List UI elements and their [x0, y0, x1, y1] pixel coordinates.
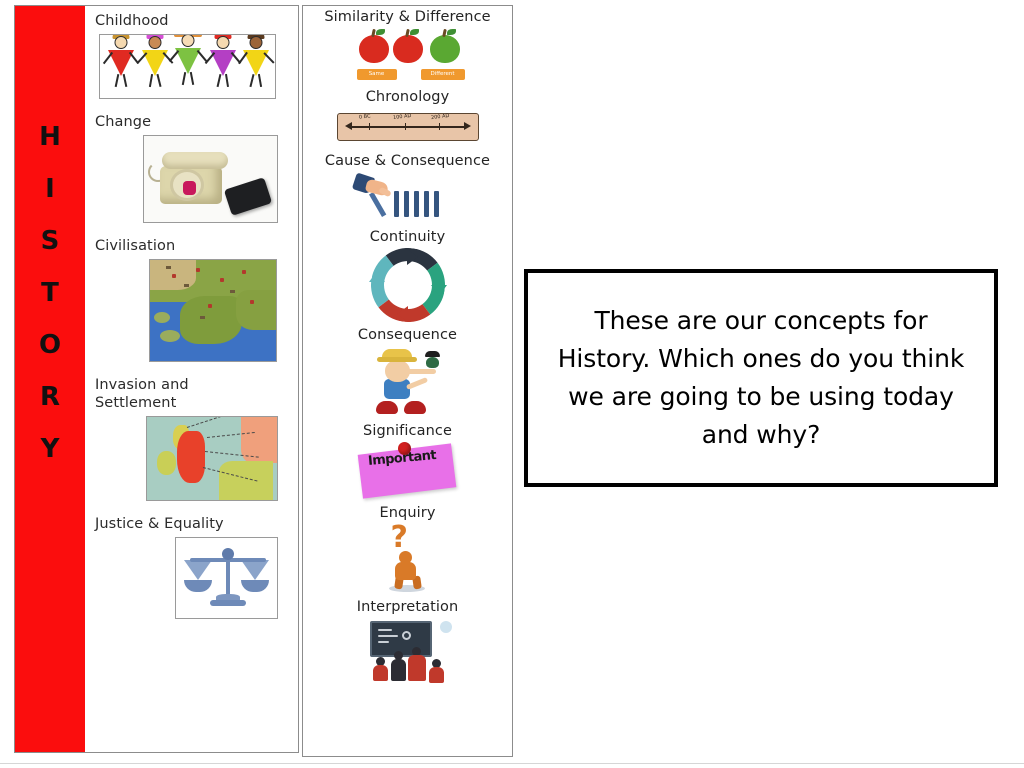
spine-letter-o: O: [39, 319, 61, 371]
topic-label-civilisation: Civilisation: [95, 237, 294, 255]
smartphone: [224, 177, 272, 216]
rotary-phone-and-smartphone-photo: [143, 135, 278, 223]
history-title-spine: H I S T O R Y: [15, 6, 85, 752]
concept-enquiry: Enquiry ?: [303, 505, 512, 593]
hand-finger: [378, 187, 391, 198]
history-concepts-panel: Similarity & Difference Same Different C…: [302, 5, 513, 757]
concept-consequence: Consequence: [303, 327, 512, 417]
spine-letter-y: Y: [41, 423, 60, 475]
topic-childhood: Childhood: [95, 12, 294, 99]
kid-figure: [208, 36, 238, 94]
phone-handset: [162, 152, 228, 169]
concept-continuity: Continuity: [303, 229, 512, 323]
invasion-routes-map-of-britain: [146, 416, 278, 501]
concept-label-continuity: Continuity: [303, 229, 512, 246]
phone-dial-center: [183, 181, 196, 195]
hand-pushing-dominoes-icon: [348, 171, 468, 223]
children-dancing-illustration: [99, 34, 276, 99]
topic-civilisation: Civilisation: [95, 237, 294, 362]
badge-different: Different: [421, 69, 465, 80]
topic-justice-equality: Justice & Equality: [95, 515, 294, 619]
ancient-civilisation-map: [149, 259, 277, 362]
classroom-discussion-illustration: [358, 617, 458, 681]
concept-label-cause-consequence: Cause & Consequence: [303, 153, 512, 170]
concept-interpretation: Interpretation: [303, 599, 512, 681]
topic-change: Change: [95, 113, 294, 223]
topic-invasion-settlement: Invasion and Settlement: [95, 376, 294, 501]
timeline-scroll-icon: 0 BC 100 AD 200 AD: [333, 107, 483, 147]
speech-bubble-icon: [440, 621, 452, 633]
slide-bottom-divider: [0, 763, 1024, 764]
concept-label-similarity-difference: Similarity & Difference: [303, 9, 512, 26]
concept-label-chronology: Chronology: [303, 89, 512, 106]
circular-arrows-cycle-icon: [367, 247, 449, 323]
apple-green: [430, 35, 460, 63]
apple-red: [393, 35, 423, 63]
concept-significance: Significance Important: [303, 423, 512, 499]
important-sticky-note-icon: Important: [354, 441, 462, 499]
spine-letter-t: T: [41, 267, 59, 319]
concept-label-consequence: Consequence: [303, 327, 512, 344]
apple-red: [359, 35, 389, 63]
slide-canvas: H I S T O R Y Childhood: [0, 0, 1024, 768]
topic-list: Childhood: [85, 6, 298, 752]
phone-dial: [170, 169, 204, 201]
kid-figure: [106, 36, 136, 94]
concept-label-interpretation: Interpretation: [303, 599, 512, 616]
concept-similarity-difference: Similarity & Difference Same Different: [303, 9, 512, 83]
pinocchio-nose: [406, 369, 436, 374]
spine-letter-h: H: [39, 111, 61, 163]
balance-scales-illustration: [175, 537, 278, 619]
question-mark-icon: ?: [391, 523, 408, 553]
badge-same: Same: [357, 69, 397, 80]
kid-figure: [241, 36, 271, 94]
spine-letter-s: S: [41, 215, 60, 267]
concept-label-significance: Significance: [303, 423, 512, 440]
topic-label-change: Change: [95, 113, 294, 131]
push-pin-icon: [398, 442, 411, 455]
concept-chronology: Chronology 0 BC 100 AD 200 AD: [303, 89, 512, 147]
cricket-figure: [426, 357, 439, 368]
pinocchio-long-nose-icon: [360, 345, 456, 417]
concept-cause-consequence: Cause & Consequence: [303, 153, 512, 223]
figure-with-question-mark-icon: ?: [373, 523, 443, 593]
three-apples-same-different-icon: Same Different: [333, 27, 483, 83]
spine-letter-i: I: [45, 163, 55, 215]
kid-figure: [172, 34, 204, 94]
spine-letter-r: R: [40, 371, 60, 423]
history-topics-panel: H I S T O R Y Childhood: [14, 5, 299, 753]
topic-label-childhood: Childhood: [95, 12, 294, 30]
topic-label-justice-equality: Justice & Equality: [95, 515, 294, 533]
pinocchio-body: [384, 379, 410, 399]
kid-figure: [140, 36, 170, 94]
teacher-prompt-box: These are our concepts for History. Whic…: [524, 269, 998, 487]
topic-label-invasion-settlement: Invasion and Settlement: [95, 376, 294, 412]
teacher-prompt-text: These are our concepts for History. Whic…: [554, 302, 968, 454]
domino-falling: [369, 192, 386, 217]
